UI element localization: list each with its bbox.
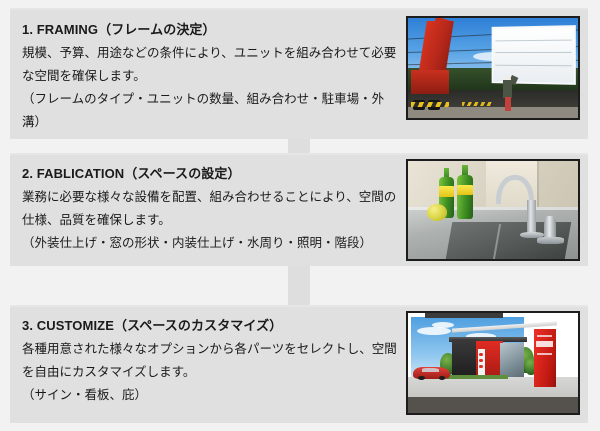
flow-connector-2-to-3 [288,266,310,305]
step-2-description: 業務に必要な様々な設備を配置、組み合わせることにより、空間の 仕様、品質を確保し… [22,180,402,255]
building-exterior-render [408,313,578,413]
panel-seam [495,64,570,66]
step-3-description: 各種用意された様々なオプションから各パーツをセレクトし、空間 を自由にカスタマイ… [22,332,402,407]
step-3-title: 3. CUSTOMIZE（スペースのカスタマイズ） [22,305,402,332]
step-2-thumbnail [406,159,580,261]
step-2-title: 2. FABLICATION（スペースの設定） [22,153,402,180]
faucet-handle-base [537,237,564,244]
step-1-description: 規模、予算、用途などの条件により、ユニットを組み合わせて必要 な空間を確保します… [22,36,402,134]
worker-legs [505,97,511,111]
hazard-stripe [462,102,493,106]
red-sign-pylon [534,329,556,387]
panel-seam [495,52,570,53]
worker-body [503,80,512,98]
step-2-text-block: 2. FABLICATION（スペースの設定） 業務に必要な様々な設備を配置、組… [22,153,402,266]
car-window [422,368,439,372]
green-bottle [457,175,472,219]
faucet-column [527,200,536,233]
step-3-text-block: 3. CUSTOMIZE（スペースのカスタマイズ） 各種用意された様々なオプショ… [22,305,402,423]
sign-accent-bar [537,335,552,337]
process-flow-diagram: 1. FRAMING（フレームの決定） 規模、予算、用途などの条件により、ユニッ… [0,0,600,431]
upper-structure-band [425,313,503,318]
process-step-2: 2. FABLICATION（スペースの設定） 業務に必要な様々な設備を配置、組… [10,153,588,266]
kitchen-sink-faucet-photo [408,161,578,259]
sign-logo-plate [536,341,553,347]
step-1-text-block: 1. FRAMING（フレームの決定） 規模、予算、用途などの条件により、ユニッ… [22,8,402,139]
crane-lifting-unit-photo [408,18,578,118]
door-porthole [479,365,482,368]
car-wheel [418,376,425,380]
door-porthole [479,353,482,356]
bottle-label [457,185,472,196]
step-1-thumbnail [406,16,580,120]
panel-seam [495,39,570,41]
sign-accent-bar [537,353,552,355]
bottle-label [439,186,454,197]
cloud [417,327,451,335]
white-building-unit [491,25,575,85]
door-porthole [479,359,482,362]
lemon [427,204,447,221]
process-step-1: 1. FRAMING（フレームの決定） 規模、予算、用途などの条件により、ユニッ… [10,8,588,139]
step-3-thumbnail [406,311,580,415]
process-step-3: 3. CUSTOMIZE（スペースのカスタマイズ） 各種用意された様々なオプショ… [10,305,588,423]
pavement [408,397,578,413]
hazard-stripe [411,102,448,107]
cloud [432,322,454,328]
crane-cab [411,70,448,94]
step-1-title: 1. FRAMING（フレームの決定） [22,8,402,36]
flow-connector-1-to-2 [288,139,310,153]
building-glass-facade [500,343,524,377]
